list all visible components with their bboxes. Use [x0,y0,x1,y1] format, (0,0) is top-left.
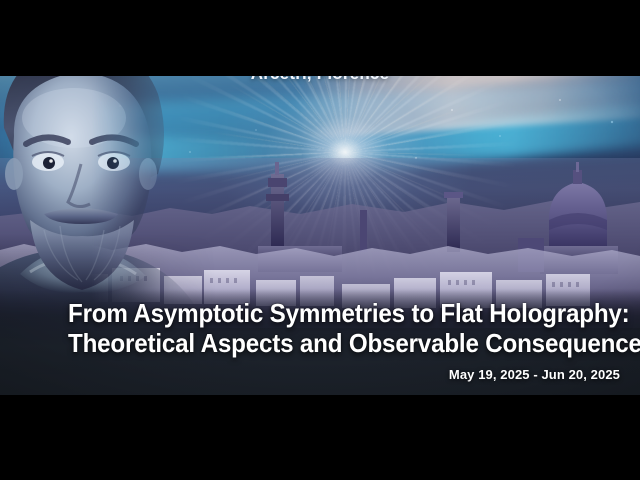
screenshot-stage: Arcetri, Florence From Asymptotic Symmet… [0,0,640,480]
conference-title-line-2: Theoretical Aspects and Observable Conse… [68,328,583,358]
letterbox-top [0,0,640,76]
conference-dates: May 19, 2025 - Jun 20, 2025 [68,367,622,382]
conference-banner-artwork: Arcetri, Florence From Asymptotic Symmet… [0,40,640,395]
letterbox-bottom [0,395,640,480]
conference-title-line-1: From Asymptotic Symmetries to Flat Holog… [68,298,583,328]
conference-title-block: From Asymptotic Symmetries to Flat Holog… [0,298,640,382]
